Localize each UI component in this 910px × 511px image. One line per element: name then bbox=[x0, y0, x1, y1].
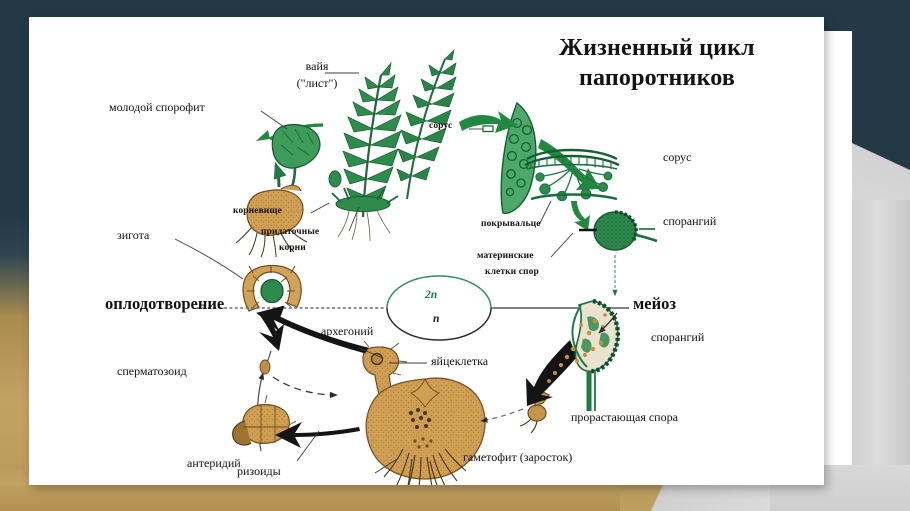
arrow-sporangium-to-spore bbox=[526, 340, 577, 406]
arrow-spore-to-gametophyte bbox=[481, 409, 523, 421]
label-sporangium-top: спорангий bbox=[663, 215, 716, 228]
label-meiosis: мейоз bbox=[633, 295, 676, 313]
slide-right-diagonal-accent bbox=[852, 140, 910, 200]
spermatozoid-path bbox=[260, 351, 337, 395]
label-fertilization: оплодотворение bbox=[105, 295, 224, 313]
gametophyte-prothallus bbox=[366, 378, 485, 485]
label-zygote: зигота bbox=[117, 229, 149, 242]
sporangium-illustration-top bbox=[579, 212, 657, 250]
label-germinating-spore: прорастающая спора bbox=[571, 411, 678, 424]
label-rhizoids: ризоиды bbox=[237, 465, 281, 478]
label-young-sporophyte: молодой спорофит bbox=[109, 101, 205, 114]
label-sorus-small: сорус bbox=[429, 121, 452, 132]
title-line-2: папоротников bbox=[579, 65, 735, 91]
label-archegonium: архегоний bbox=[321, 325, 373, 338]
slide-right-gray-band bbox=[852, 176, 910, 511]
ploidy-haploid-label: n bbox=[433, 313, 439, 325]
label-adventitious-roots-line2: корни bbox=[279, 243, 306, 254]
label-antheridium: антеридий bbox=[187, 457, 241, 470]
ploidy-diploid-label: 2n bbox=[425, 289, 437, 301]
label-spore-mother-cells-line2: клетки спор bbox=[485, 267, 539, 278]
label-frond: вайя bbox=[277, 60, 357, 73]
label-rhizome: корневище bbox=[233, 206, 282, 217]
label-spermatozoid: сперматозоид bbox=[117, 365, 187, 378]
slide-title: Жизненный цикл папоротников bbox=[507, 33, 807, 93]
presentation-slide: Жизненный цикл папоротников вайя ("лист"… bbox=[0, 0, 910, 511]
label-adventitious-roots-line1: придаточные bbox=[261, 227, 319, 238]
slide-right-border-band bbox=[852, 0, 910, 170]
label-indusium: покрывальце bbox=[481, 219, 541, 230]
label-gametophyte: гаметофит (заросток) bbox=[463, 451, 572, 464]
label-spore-mother-cells-line1: материнские bbox=[477, 251, 534, 262]
label-sporangium-bottom: спорангий bbox=[651, 331, 704, 344]
label-sorus-large: сорус bbox=[663, 151, 692, 164]
slide-content-card: Жизненный цикл папоротников вайя ("лист"… bbox=[29, 17, 824, 485]
label-frond-leaf: ("лист") bbox=[271, 77, 363, 90]
title-line-1: Жизненный цикл bbox=[559, 35, 755, 61]
ploidy-ellipse bbox=[387, 276, 491, 340]
label-egg-cell: яйцеклетка bbox=[431, 355, 488, 368]
